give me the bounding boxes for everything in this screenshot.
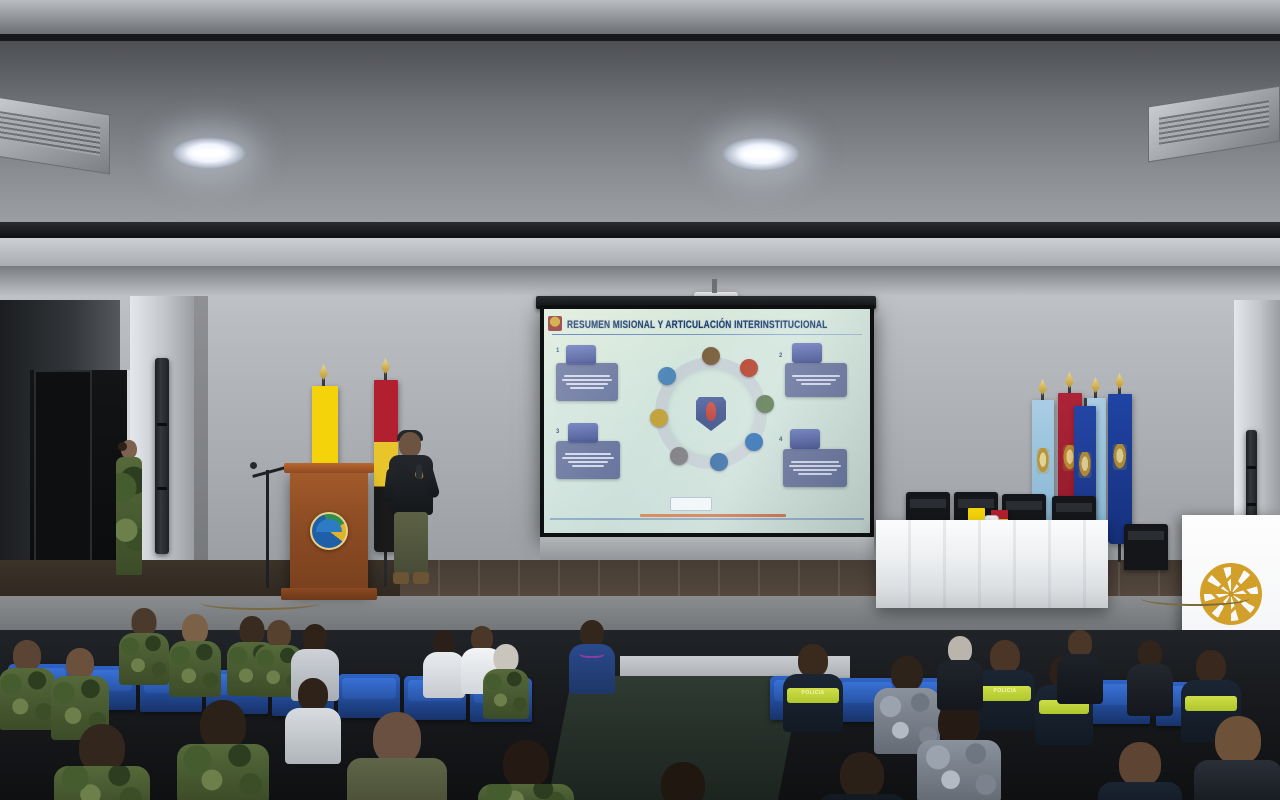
wooden-lectern	[290, 470, 368, 590]
projection-screen[interactable]: RESUMEN MISIONAL Y ARTICULACIÓN INTERINS…	[540, 305, 874, 537]
slide-footer-rule	[550, 518, 864, 520]
person-torso	[0, 668, 55, 730]
floor-cable	[1140, 590, 1250, 606]
speaker-head	[399, 432, 421, 457]
person-torso	[937, 660, 983, 710]
audience-member	[120, 608, 168, 684]
ceiling-beam-shadow	[0, 34, 1280, 41]
speaker-boot	[393, 572, 409, 584]
vest-label: POLICIA	[801, 690, 824, 696]
ring-node-emblem	[670, 447, 688, 465]
ring-node-emblem	[745, 433, 763, 451]
person-torso	[783, 674, 843, 732]
slide-box-icon	[790, 429, 820, 449]
floor-cable	[200, 596, 320, 610]
person-torso	[1127, 664, 1173, 716]
ring-node-emblem	[756, 395, 774, 413]
projection-screen-surface: RESUMEN MISIONAL Y ARTICULACIÓN INTERINS…	[544, 309, 870, 533]
person-torso	[818, 794, 906, 800]
audience-member	[350, 712, 444, 800]
vest-label: POLICIA	[993, 688, 1016, 694]
audience-member	[286, 678, 340, 762]
ceiling-downlight	[722, 137, 800, 171]
person-head	[182, 614, 208, 644]
slide-box-icon	[568, 423, 598, 443]
column-line-array-speaker	[155, 358, 169, 554]
person-head	[948, 636, 972, 663]
audience-member	[640, 762, 726, 800]
person-head	[373, 712, 421, 764]
audience-member	[56, 724, 148, 800]
person-head	[1215, 716, 1261, 764]
ring-node-emblem	[650, 409, 668, 427]
speaker-trousers	[394, 512, 428, 574]
person-head	[1138, 640, 1162, 667]
person-torso	[285, 708, 341, 764]
ceiling-soffit-shadow	[0, 222, 1280, 238]
audience-member	[484, 644, 528, 716]
slide-box-icon	[566, 345, 596, 365]
audience-member	[1196, 716, 1280, 800]
institutional-crest-logo	[548, 316, 562, 331]
slide-header: RESUMEN MISIONAL Y ARTICULACIÓN INTERINS…	[548, 315, 866, 332]
person-head	[580, 620, 604, 647]
lectern-top	[284, 463, 374, 473]
audience-member	[920, 700, 998, 800]
flag-crest	[1036, 448, 1049, 474]
slide-callout-text	[788, 366, 844, 394]
person-torso	[119, 633, 169, 685]
person-head	[840, 752, 884, 798]
handheld-microphone	[416, 464, 422, 479]
person-head	[132, 608, 157, 636]
audience-member	[180, 700, 266, 800]
flag-crest	[1078, 452, 1091, 478]
slide-box-number: 1	[556, 348, 559, 354]
ceiling-beam	[0, 0, 1280, 34]
person-head	[303, 624, 327, 652]
person-head	[798, 644, 828, 677]
person-torso	[169, 641, 221, 697]
person-torso	[1098, 782, 1182, 800]
slide-callout-text	[559, 366, 615, 398]
slide-callout-box	[783, 449, 847, 487]
ring-node-emblem	[658, 367, 676, 385]
reflective-vest	[1185, 696, 1237, 711]
person-head	[1119, 742, 1161, 786]
lanyard	[579, 646, 605, 658]
person-torso	[917, 740, 1001, 800]
audience-member	[1128, 640, 1172, 712]
ceiling	[0, 0, 1280, 300]
ring-node-emblem	[702, 347, 720, 365]
person-torso	[54, 766, 150, 800]
person-head	[1068, 630, 1092, 657]
person-torso	[423, 652, 465, 698]
slide-accent-bar	[640, 514, 786, 517]
microphone-stand-pole	[266, 470, 269, 588]
person-head	[891, 656, 923, 691]
audience-member	[424, 630, 464, 696]
person-torso	[1057, 654, 1103, 704]
ceiling-soffit	[0, 238, 1280, 266]
microphone-head	[250, 462, 257, 469]
person-torso	[478, 784, 574, 800]
person-head	[267, 620, 291, 648]
person-torso	[347, 758, 447, 800]
wall-shadow	[0, 266, 1280, 296]
person-torso	[177, 744, 269, 800]
slide-callout-box	[785, 363, 847, 397]
person-torso	[1194, 760, 1280, 800]
slide-footer-label	[670, 497, 712, 511]
audience-member	[1058, 630, 1102, 700]
ring-node-emblem	[740, 359, 758, 377]
ac-vent	[0, 95, 110, 174]
person-head	[503, 740, 549, 788]
speaker-boot	[413, 572, 429, 584]
person-head	[200, 700, 246, 750]
speaker-officer	[385, 432, 437, 592]
audience-member	[170, 614, 220, 694]
person-head	[13, 640, 41, 671]
auditorium-scene: RESUMEN MISIONAL Y ARTICULACIÓN INTERINS…	[0, 0, 1280, 800]
slide-box-number: 4	[779, 437, 782, 443]
audience-member	[0, 640, 54, 730]
slide-box-number: 3	[556, 429, 559, 435]
police-officer: POLICIA	[784, 644, 842, 730]
ac-vent	[1148, 86, 1280, 163]
slide-callout-text	[559, 444, 617, 476]
wall-display-panel	[34, 370, 92, 570]
person-head	[66, 648, 94, 679]
audience-member	[938, 636, 982, 706]
person-head	[494, 644, 519, 672]
person-head	[990, 640, 1020, 673]
flag-crest	[1113, 444, 1127, 470]
standing-soldier	[114, 440, 144, 580]
head-table	[876, 520, 1108, 608]
person-head	[298, 678, 328, 711]
slide-callout-box	[556, 363, 618, 401]
person-head	[661, 762, 705, 800]
slide-callout-box	[556, 441, 620, 479]
audience-member	[820, 752, 904, 800]
audience-member	[570, 620, 614, 692]
institutional-circular-seal	[310, 512, 348, 550]
slide-box-icon	[792, 343, 822, 363]
ceremonial-flag-royal-blue	[1108, 394, 1132, 544]
person-head	[1196, 650, 1226, 683]
head-table-chair	[1124, 524, 1168, 570]
slide-title: RESUMEN MISIONAL Y ARTICULACIÓN INTERINS…	[567, 317, 827, 330]
ceiling-downlight	[172, 137, 246, 169]
ring-node-emblem	[710, 453, 728, 471]
audience-member	[480, 740, 572, 800]
police-officer	[1100, 742, 1180, 800]
soldier-hair-bun	[118, 442, 127, 451]
person-head	[79, 724, 125, 772]
slide-callout-text	[786, 452, 844, 484]
soldier-camo-uniform	[116, 457, 142, 575]
slide-title-rule	[552, 334, 862, 335]
person-torso	[483, 669, 529, 719]
slide-box-number: 2	[779, 353, 782, 359]
